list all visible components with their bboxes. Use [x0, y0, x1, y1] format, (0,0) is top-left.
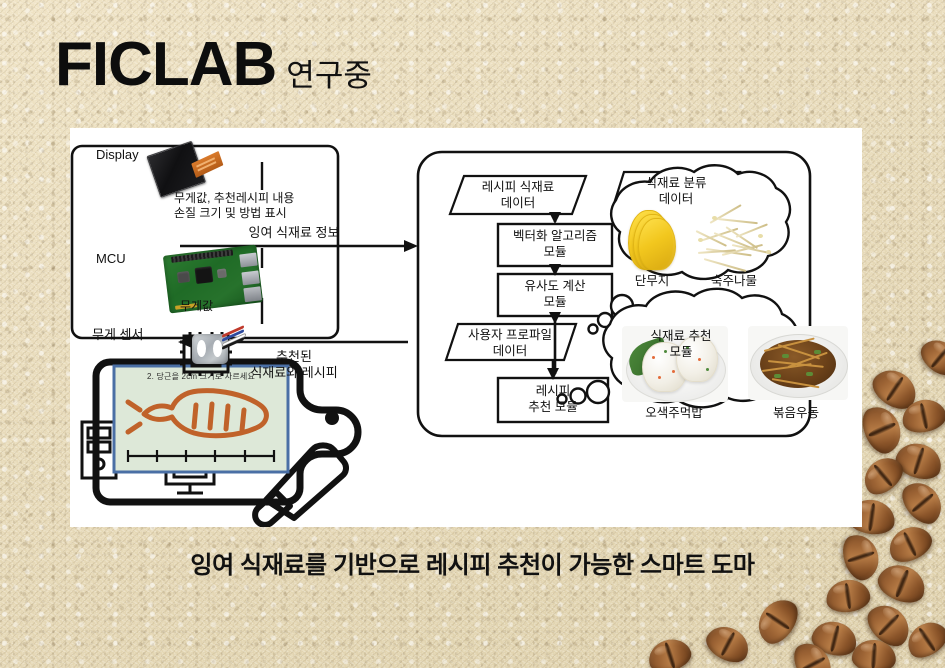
arrow-label-display-line2: 손질 크기 및 방법 표시: [174, 207, 287, 221]
node-vectorization-module-line1: 벡터화 알고리즘: [513, 229, 597, 243]
slide-caption: 잉여 식재료를 기반으로 레시피 추천이 가능한 스마트 도마: [0, 545, 945, 580]
arrow-label-surplus-ingredient-info: 잉여 식재료 정보: [249, 226, 340, 241]
node-similarity-module-line2: 모듈: [543, 295, 566, 309]
title-subtitle: 연구중: [286, 60, 372, 96]
node-ingredient-classification-data-line1: 식재료 분류: [646, 176, 707, 190]
food-label-bean-sprouts: 숙주나물: [711, 274, 757, 288]
food-photo-bean-sprouts: [696, 210, 774, 266]
food-label-stir-fried-udon: 볶음우동: [773, 406, 819, 420]
food-label-pickled-radish: 단무지: [635, 274, 670, 288]
node-vectorization-module-line2: 모듈: [543, 245, 566, 259]
label-weight-sensor: 무게 센서: [92, 328, 143, 343]
arrow-label-recommended-line1: 추천된: [276, 350, 312, 365]
load-cell-sensor-photo: [184, 328, 246, 368]
node-ingredient-classification-data-line2: 데이터: [659, 192, 694, 206]
cutting-board-screen-text: 2. 당근을 2cm 크기로 자르세요: [115, 371, 287, 382]
node-user-profile-data-line2: 데이터: [493, 344, 528, 358]
food-photo-pickled-radish: [626, 208, 678, 270]
arrow-label-display-line1: 무게값, 추천레시피 내용: [174, 192, 294, 206]
node-ingredient-recommend-module-line1: 식재료 추천: [651, 329, 712, 343]
label-display: Display: [96, 148, 139, 163]
label-mcu: MCU: [96, 252, 126, 267]
arrow-label-weight-value: 무게값: [180, 300, 213, 314]
node-recipe-ingredient-data-line1: 레시피 식재료: [482, 180, 554, 194]
page-title: FICLAB 연구중: [55, 34, 372, 96]
food-label-rice-balls: 오색주먹밥: [645, 406, 703, 420]
node-ingredient-recommend-module-line2: 모듈: [669, 345, 692, 359]
node-user-profile-data-line1: 사용자 프로파일: [468, 328, 552, 342]
node-recipe-recommend-module-line1: 레시피: [536, 384, 571, 398]
node-recipe-recommend-module-line2: 추천 모듈: [528, 400, 577, 414]
food-photo-stir-fried-udon: [748, 326, 848, 400]
diagram-panel: Display MCU 무게 센서 무게값, 추천레시피 내용 손질 크기 및 …: [70, 128, 862, 527]
slide-canvas: FICLAB 연구중: [0, 0, 945, 668]
node-recipe-ingredient-data-line2: 데이터: [501, 196, 536, 210]
title-main: FICLAB: [55, 34, 276, 96]
node-similarity-module-line1: 유사도 계산: [525, 279, 586, 293]
